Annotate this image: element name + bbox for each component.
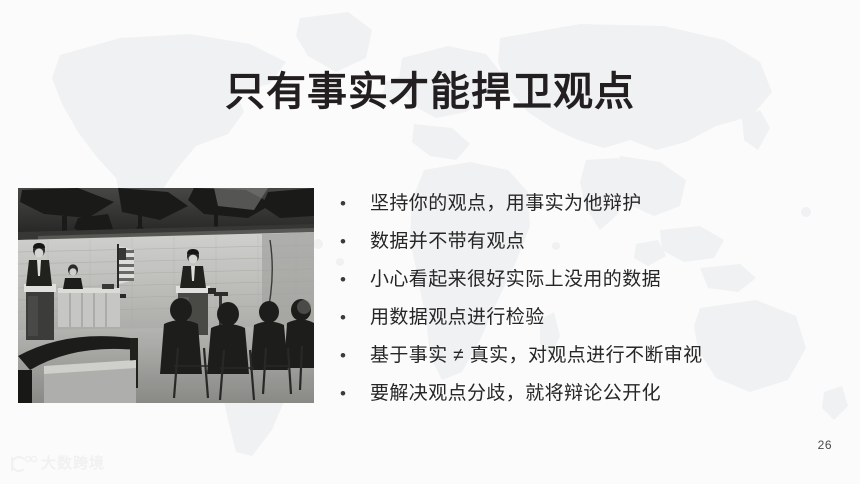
- slide-title: 只有事实才能捍卫观点: [0, 68, 860, 116]
- bullet-list: • 坚持你的观点，用事实为他辩护 • 数据并不带有观点 • 小心看起来很好实际上…: [336, 190, 836, 418]
- list-item: • 基于事实 ≠ 真实，对观点进行不断审视: [336, 342, 836, 380]
- debate-photo: [18, 188, 314, 403]
- list-item: • 数据并不带有观点: [336, 228, 836, 266]
- bullet-marker: •: [336, 228, 370, 256]
- list-item-text: 坚持你的观点，用事实为他辩护: [370, 190, 642, 218]
- list-item: • 坚持你的观点，用事实为他辩护: [336, 190, 836, 228]
- list-item-text: 小心看起来很好实际上没用的数据: [370, 266, 661, 294]
- list-item-text: 用数据观点进行检验: [370, 304, 545, 332]
- brand-logo: 大数跨境: [8, 450, 105, 478]
- list-item-text: 基于事实 ≠ 真实，对观点进行不断审视: [370, 342, 703, 370]
- list-item-text: 要解决观点分歧，就将辩论公开化: [370, 380, 661, 408]
- list-item: • 要解决观点分歧，就将辩论公开化: [336, 380, 836, 418]
- page-number: 26: [818, 438, 832, 452]
- bullet-marker: •: [336, 190, 370, 218]
- bullet-marker: •: [336, 380, 370, 408]
- logo-text: 大数跨境: [41, 454, 105, 474]
- bullet-marker: •: [336, 266, 370, 294]
- bullet-marker: •: [336, 304, 370, 332]
- list-item: • 用数据观点进行检验: [336, 304, 836, 342]
- list-item-text: 数据并不带有观点: [370, 228, 525, 256]
- bullet-marker: •: [336, 342, 370, 370]
- logo-mark-icon: [8, 454, 38, 474]
- presentation-slide: 只有事实才能捍卫观点: [0, 0, 860, 484]
- list-item: • 小心看起来很好实际上没用的数据: [336, 266, 836, 304]
